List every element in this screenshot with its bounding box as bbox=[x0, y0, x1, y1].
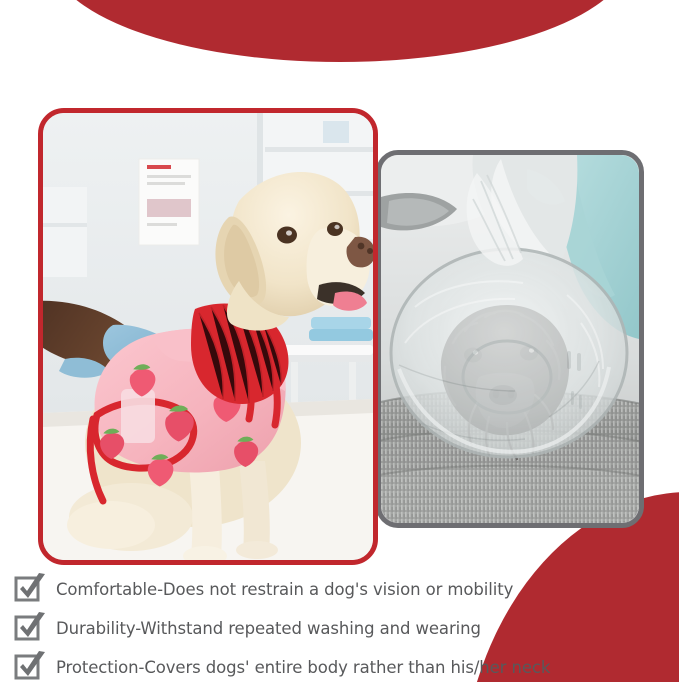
header-banner bbox=[50, 0, 630, 62]
e-collar-cone-photo-frame bbox=[376, 150, 644, 528]
list-item: Protection-Covers dogs' entire body rath… bbox=[14, 650, 654, 682]
list-item-label: Protection-Covers dogs' entire body rath… bbox=[56, 658, 550, 677]
list-item-label: Durability-Withstand repeated washing an… bbox=[56, 619, 481, 638]
checkbox-checked-icon bbox=[14, 652, 44, 682]
checkbox-checked-icon bbox=[14, 574, 44, 604]
e-collar-cone-illustration bbox=[381, 155, 639, 523]
checkbox-checked-icon bbox=[14, 613, 44, 643]
product-infographic: Dog Cone&E-Collar Alternative bbox=[0, 0, 679, 682]
recovery-suit-photo-frame bbox=[38, 108, 378, 565]
feature-list: Comfortable-Does not restrain a dog's vi… bbox=[14, 572, 654, 682]
recovery-suit-photo bbox=[43, 113, 373, 560]
e-collar-cone-photo bbox=[381, 155, 639, 523]
list-item-label: Comfortable-Does not restrain a dog's vi… bbox=[56, 580, 513, 599]
recovery-suit-illustration bbox=[43, 113, 373, 560]
list-item: Comfortable-Does not restrain a dog's vi… bbox=[14, 572, 654, 606]
list-item: Durability-Withstand repeated washing an… bbox=[14, 611, 654, 645]
